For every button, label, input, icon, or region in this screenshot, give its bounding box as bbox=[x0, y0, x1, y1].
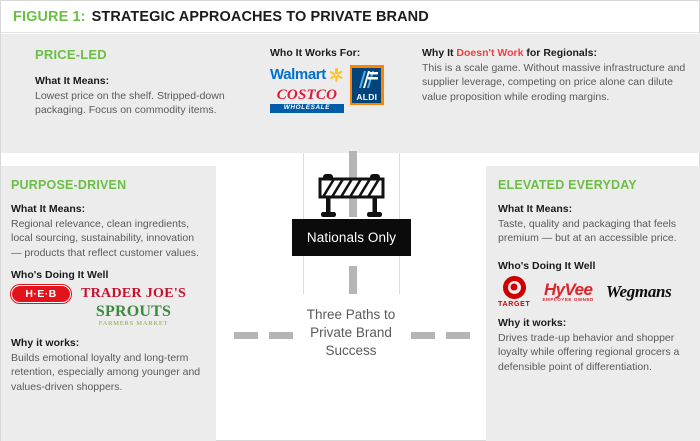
hyvee-wordmark: HyVee bbox=[542, 281, 593, 298]
trader-joes-logo: TRADER JOE'S bbox=[81, 286, 186, 302]
elevated-everyday-why-it-works-label: Why it works: bbox=[498, 317, 689, 329]
price-led-category-heading: PRICE-LED bbox=[35, 47, 252, 62]
figure-title: STRATEGIC APPROACHES TO PRIVATE BRAND bbox=[92, 9, 429, 25]
price-led-why-column: Why It Doesn't Work for Regionals: This … bbox=[416, 34, 700, 153]
aldi-mark-icon bbox=[356, 70, 378, 89]
price-led-what-it-means-label: What It Means: bbox=[35, 75, 252, 87]
aldi-wordmark: ALDI bbox=[356, 92, 377, 102]
figure-number-label: FIGURE 1: bbox=[13, 9, 86, 25]
elevated-everyday-why-it-works-block: Why it works: Drives trade-up behavior a… bbox=[498, 317, 689, 374]
hyvee-sub-wordmark: EMPLOYEE OWNED bbox=[542, 298, 593, 303]
why-label-emphasis: Doesn't Work bbox=[456, 47, 523, 59]
costco-wordmark: COSTCO bbox=[277, 87, 337, 103]
figure-container: FIGURE 1: STRATEGIC APPROACHES TO PRIVAT… bbox=[0, 0, 700, 441]
purpose-driven-what-it-means-label: What It Means: bbox=[11, 203, 204, 215]
hyvee-logo: HyVee EMPLOYEE OWNED bbox=[542, 281, 593, 303]
purpose-driven-whos-doing-it-well-label: Who's Doing It Well bbox=[11, 269, 204, 281]
vertical-dash-3 bbox=[349, 266, 357, 294]
why-label-part1: Why It bbox=[422, 47, 456, 59]
sprouts-logo: SPROUTS FARMERS MARKET bbox=[63, 304, 204, 328]
purpose-driven-why-it-works-block: Why it works: Builds emotional loyalty a… bbox=[11, 337, 204, 394]
who-it-works-for-label: Who It Works For: bbox=[270, 47, 410, 59]
elevated-everyday-category-heading: ELEVATED EVERYDAY bbox=[498, 178, 689, 192]
elevated-everyday-what-it-means-block: What It Means: Taste, quality and packag… bbox=[498, 203, 689, 246]
elevated-everyday-logo-block: TARGET HyVee EMPLOYEE OWNED Wegmans bbox=[498, 276, 689, 308]
heb-logo: H·E·B bbox=[11, 285, 71, 303]
purpose-driven-why-it-works-label: Why it works: bbox=[11, 337, 204, 349]
price-led-what-it-means-text: Lowest price on the shelf. Stripped-down… bbox=[35, 89, 252, 118]
horizontal-dash-3 bbox=[411, 332, 435, 339]
walmart-wordmark: Walmart bbox=[270, 66, 326, 83]
panel-purpose-driven: PURPOSE-DRIVEN What It Means: Regional r… bbox=[1, 166, 216, 441]
panel-price-led: PRICE-LED What It Means: Lowest price on… bbox=[1, 34, 700, 153]
purpose-driven-category-heading: PURPOSE-DRIVEN bbox=[11, 178, 204, 192]
target-logo: TARGET bbox=[498, 276, 530, 308]
walmart-spark-icon bbox=[329, 67, 344, 82]
walmart-logo: Walmart bbox=[270, 66, 344, 83]
purpose-driven-what-it-means-block: What It Means: Regional relevance, clean… bbox=[11, 203, 204, 260]
why-it-doesnt-work-text: This is a scale game. Without massive in… bbox=[422, 61, 687, 104]
wegmans-logo: Wegmans bbox=[606, 282, 672, 302]
sprouts-wordmark: SPROUTS bbox=[63, 304, 204, 320]
price-led-description-column: PRICE-LED What It Means: Lowest price on… bbox=[1, 34, 266, 153]
road-barrier-icon bbox=[314, 171, 389, 219]
figure-header: FIGURE 1: STRATEGIC APPROACHES TO PRIVAT… bbox=[1, 1, 700, 33]
purpose-driven-why-it-works-text: Builds emotional loyalty and long-term r… bbox=[11, 351, 204, 394]
purpose-driven-logo-block: H·E·B TRADER JOE'S SPROUTS FARMERS MARKE… bbox=[11, 285, 204, 328]
nationals-only-badge: Nationals Only bbox=[292, 219, 411, 256]
elevated-everyday-what-it-means-text: Taste, quality and packaging that feels … bbox=[498, 217, 689, 246]
nationals-only-badge-text: Nationals Only bbox=[307, 230, 396, 245]
why-it-doesnt-work-label: Why It Doesn't Work for Regionals: bbox=[422, 47, 687, 59]
purpose-driven-what-it-means-text: Regional relevance, clean ingredients, l… bbox=[11, 217, 204, 260]
price-led-logos-column: Who It Works For: Walmart COSTCO WHOL bbox=[266, 34, 416, 153]
horizontal-dash-4 bbox=[446, 332, 470, 339]
aldi-logo: ALDI bbox=[350, 65, 384, 105]
price-led-logo-row: Walmart COSTCO WHOLESALE bbox=[270, 65, 410, 113]
target-wordmark: TARGET bbox=[498, 301, 530, 308]
costco-logo: COSTCO WHOLESALE bbox=[270, 87, 344, 113]
costco-sub-wordmark: WHOLESALE bbox=[270, 104, 344, 113]
elevated-everyday-why-it-works-text: Drives trade-up behavior and shopper loy… bbox=[498, 331, 689, 374]
elevated-everyday-whos-doing-it-well-label: Who's Doing It Well bbox=[498, 260, 689, 272]
center-caption: Three Paths to Private Brand Success bbox=[286, 306, 416, 360]
panel-elevated-everyday: ELEVATED EVERYDAY What It Means: Taste, … bbox=[486, 166, 700, 441]
horizontal-dash-1 bbox=[234, 332, 258, 339]
elevated-everyday-what-it-means-label: What It Means: bbox=[498, 203, 689, 215]
horizontal-dash-2 bbox=[269, 332, 293, 339]
why-label-part2: for Regionals: bbox=[523, 47, 597, 59]
target-bullseye-icon bbox=[503, 276, 526, 299]
sprouts-sub-wordmark: FARMERS MARKET bbox=[63, 321, 204, 328]
